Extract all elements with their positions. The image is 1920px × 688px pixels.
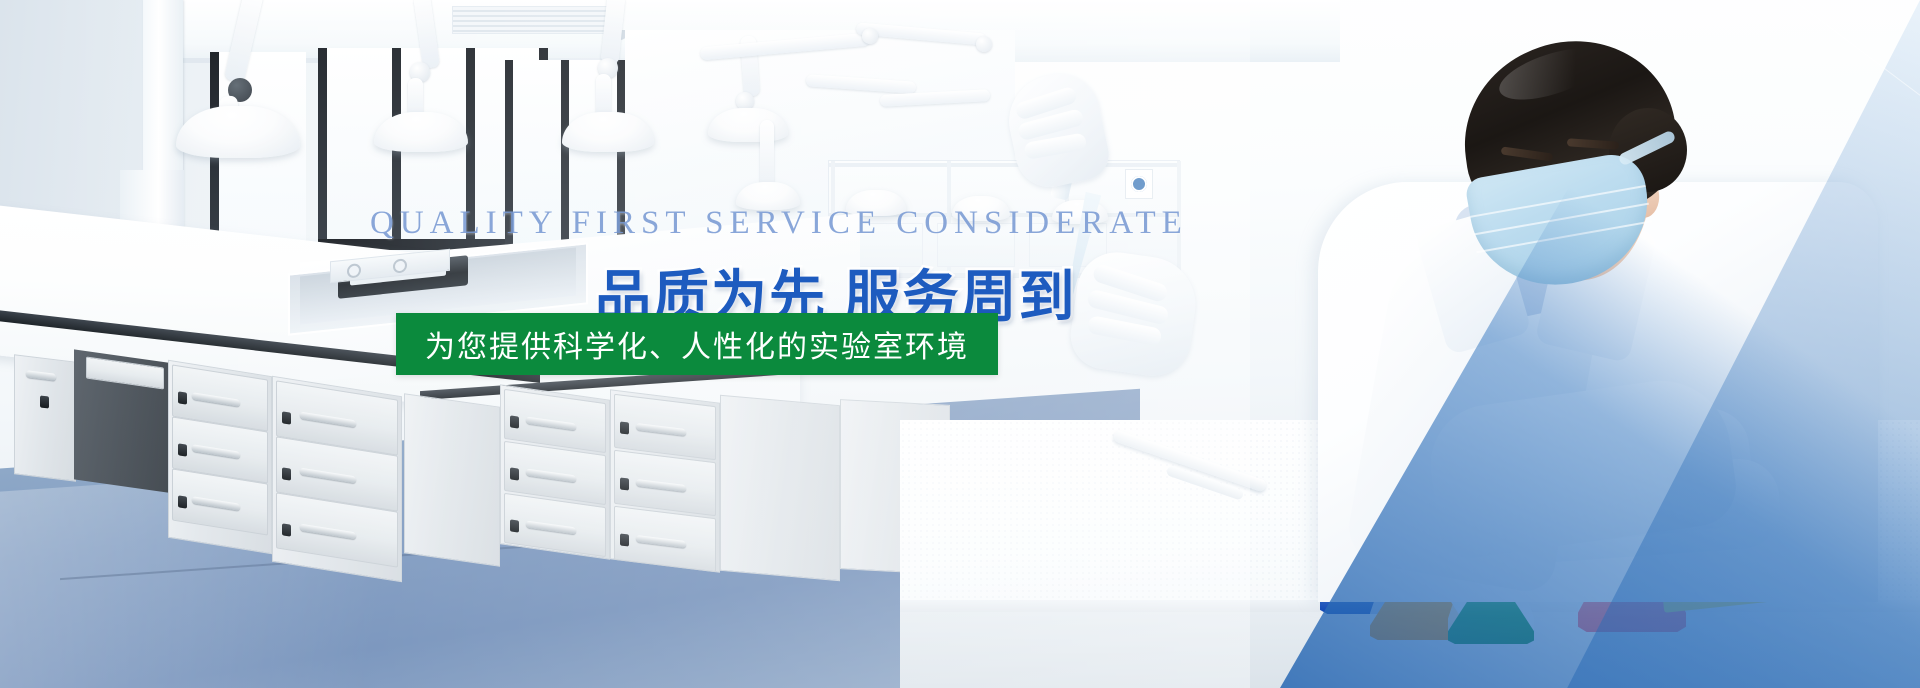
subtitle-text: 为您提供科学化、人性化的实验室环境 bbox=[425, 322, 969, 366]
text-overlay: QUALITY FIRST SERVICE CONSIDERATE 品质为先 服… bbox=[0, 0, 1920, 688]
english-tagline: QUALITY FIRST SERVICE CONSIDERATE bbox=[370, 205, 1188, 242]
hero-banner: QUALITY FIRST SERVICE CONSIDERATE 品质为先 服… bbox=[0, 0, 1920, 688]
subtitle-band: 为您提供科学化、人性化的实验室环境 bbox=[396, 313, 998, 375]
